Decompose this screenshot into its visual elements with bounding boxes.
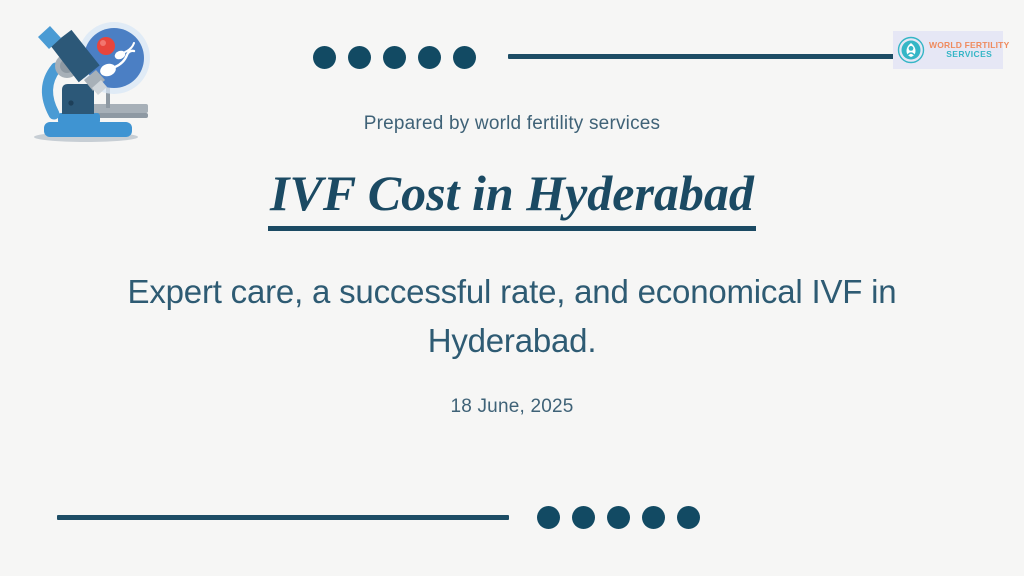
decorative-dot [313,46,336,69]
logo-wordmark: WORLD FERTILITY SERVICES [929,41,1009,59]
decorative-dot-row-top [313,46,476,69]
slide-date: 18 June, 2025 [0,396,1024,418]
decorative-rule-top [508,54,900,59]
decorative-dot [677,506,700,529]
decorative-dot-row-bottom [537,506,700,529]
decorative-dot [383,46,406,69]
decorative-rule-bottom [57,515,509,520]
decorative-dot [572,506,595,529]
world-fertility-mark-icon [897,36,925,64]
page-title-text: IVF Cost in Hyderabad [268,166,756,231]
decorative-dot [348,46,371,69]
logo-line-secondary: SERVICES [929,50,1009,59]
slide-canvas: WORLD FERTILITY SERVICES Prepared by wor… [0,0,1024,576]
decorative-dot [418,46,441,69]
logo-badge: WORLD FERTILITY SERVICES [893,31,1003,69]
page-title: IVF Cost in Hyderabad [0,166,1024,231]
page-subtitle: Expert care, a successful rate, and econ… [86,268,938,366]
decorative-dot [453,46,476,69]
decorative-dot [537,506,560,529]
decorative-dot [607,506,630,529]
prepared-by-text: Prepared by world fertility services [0,113,1024,135]
decorative-dot [642,506,665,529]
